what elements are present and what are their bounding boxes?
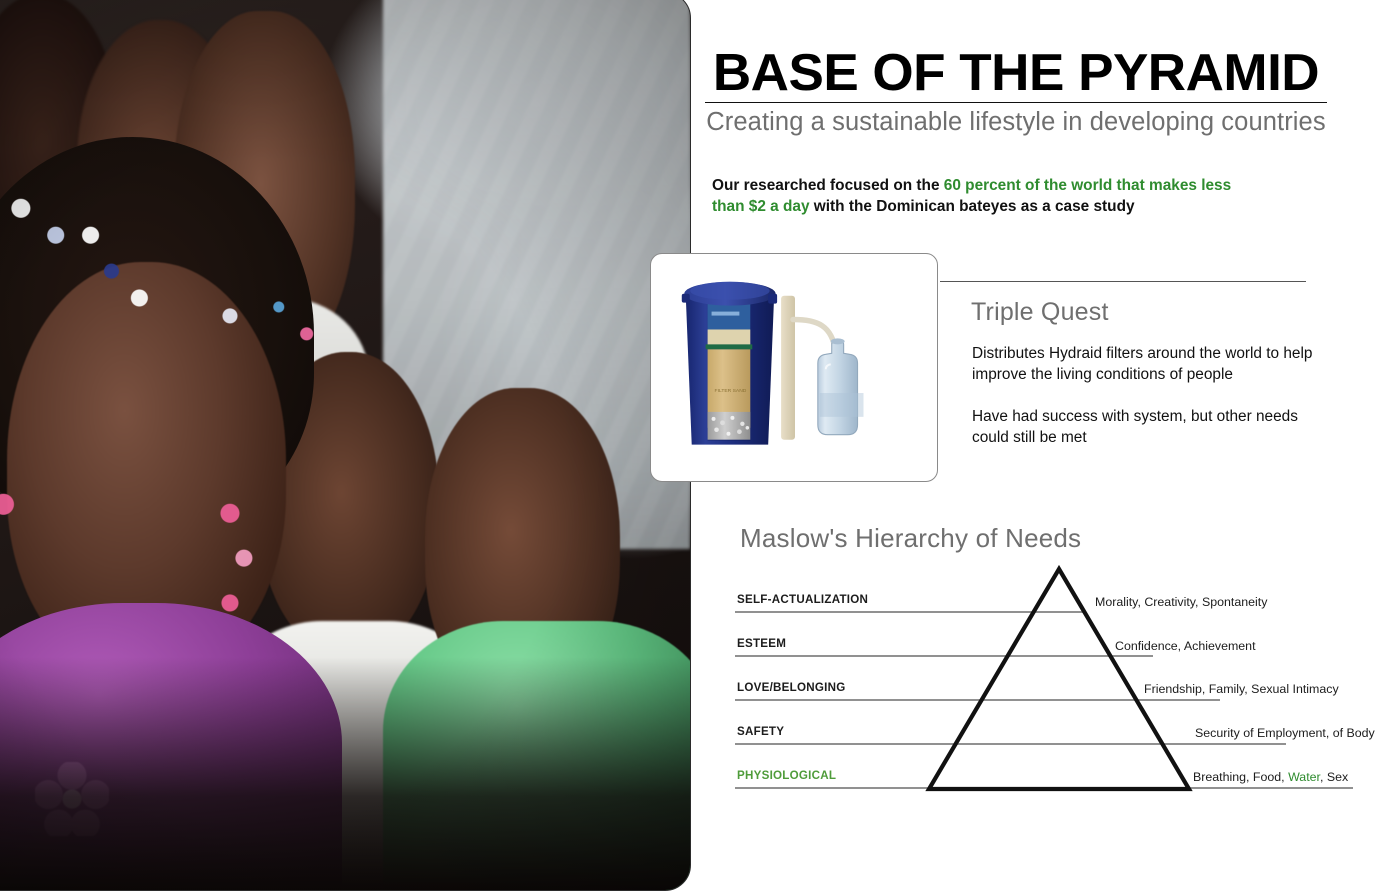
tier-examples-love-belonging: Friendship, Family, Sexual Intimacy xyxy=(1144,682,1339,696)
filter-fine-sand-layer xyxy=(708,329,751,345)
page-title: BASE OF THE PYRAMID xyxy=(699,48,1333,99)
tier-label-self-actualization: SELF-ACTUALIZATION xyxy=(737,593,868,606)
tier-label-love-belonging: LOVE/BELONGING xyxy=(737,681,846,694)
triple-quest-heading: Triple Quest xyxy=(971,298,1109,327)
water-jug xyxy=(818,340,858,434)
tier-examples-safety: Security of Employment, of Body xyxy=(1195,726,1375,740)
triple-quest-paragraph-2: Have had success with system, but other … xyxy=(972,406,1317,448)
intro-text-part2: with the Dominican bateyes as a case stu… xyxy=(810,198,1135,215)
title-block: BASE OF THE PYRAMID Creating a sustainab… xyxy=(705,48,1327,137)
tier-examples-physiological: Breathing, Food, Water, Sex xyxy=(1193,770,1348,784)
triple-quest-body: Distributes Hydraid filters around the w… xyxy=(972,343,1317,448)
tier-examples-esteem: Confidence, Achievement xyxy=(1115,639,1256,653)
intro-text-part1: Our researched focused on the xyxy=(712,177,944,194)
photo-vignette xyxy=(0,0,690,890)
maslow-pyramid-diagram: SELF-ACTUALIZATION ESTEEM LOVE/BELONGING… xyxy=(733,560,1393,805)
tier-examples-physiological-pre: Breathing, Food, xyxy=(1193,770,1288,784)
intro-paragraph: Our researched focused on the 60 percent… xyxy=(712,175,1232,217)
tier-examples-self-actualization: Morality, Creativity, Spontaneity xyxy=(1095,595,1267,609)
children-photo xyxy=(0,0,690,890)
tier-label-safety: SAFETY xyxy=(737,725,784,738)
tier-label-esteem: ESTEEM xyxy=(737,637,786,650)
filter-outlet-tube xyxy=(793,320,836,352)
product-image-card: FILTER SAND xyxy=(650,253,938,482)
triple-quest-divider xyxy=(940,281,1306,282)
content-column: BASE OF THE PYRAMID Creating a sustainab… xyxy=(693,0,1400,881)
maslow-heading: Maslow's Hierarchy of Needs xyxy=(740,523,1081,554)
tier-label-physiological: PHYSIOLOGICAL xyxy=(737,769,836,782)
tier-examples-physiological-post: , Sex xyxy=(1320,770,1348,784)
title-underline-rule xyxy=(705,102,1327,103)
tier-examples-physiological-water: Water xyxy=(1288,770,1320,784)
filter-lid-clip-right xyxy=(768,294,777,304)
filter-diffuser-band xyxy=(706,344,753,349)
water-jug-neck xyxy=(831,338,845,344)
page-subtitle: Creating a sustainable lifestyle in deve… xyxy=(705,108,1327,137)
photograph-panel xyxy=(0,0,691,891)
hydraid-water-filter-illustration: FILTER SAND xyxy=(651,254,937,481)
filter-lid-clip-left xyxy=(682,294,690,303)
triple-quest-paragraph-1: Distributes Hydraid filters around the w… xyxy=(972,343,1317,385)
svg-text:FILTER SAND: FILTER SAND xyxy=(715,388,747,394)
